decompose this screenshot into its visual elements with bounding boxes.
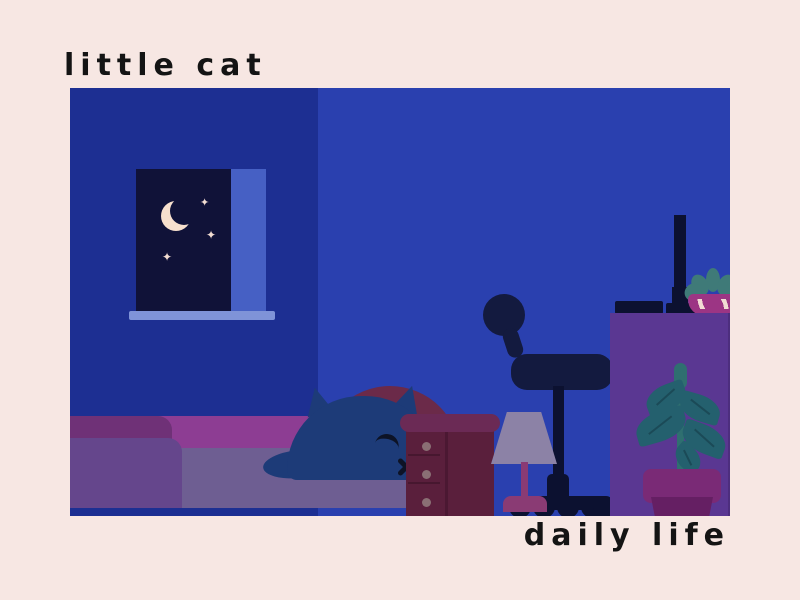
page-title-top: little cat — [64, 48, 267, 83]
nightstand-body — [406, 430, 494, 516]
floor-plant — [629, 363, 730, 516]
lamp-pole — [521, 462, 528, 500]
nightstand-drawer-line — [408, 482, 440, 484]
crescent-moon-icon — [161, 201, 191, 231]
page-title-bottom: daily life — [524, 518, 730, 553]
lamp-base — [503, 496, 547, 512]
window-curtain — [231, 169, 266, 311]
desk-succulent — [684, 268, 730, 316]
star-icon: ✦ — [162, 251, 172, 264]
plant-pot-body — [651, 497, 713, 516]
drawer-knob[interactable] — [422, 470, 431, 479]
star-icon: ✦ — [206, 229, 216, 242]
nightstand-divider — [445, 430, 448, 516]
room-scene: ✦ ✦ ✦ — [70, 88, 730, 516]
star-icon: ✦ — [200, 196, 209, 209]
nightstand-top — [400, 414, 500, 432]
bed-armrest-lower — [70, 438, 182, 508]
night-window: ✦ ✦ ✦ — [136, 169, 266, 319]
drawer-knob[interactable] — [422, 498, 431, 507]
nightstand-drawer-line — [408, 454, 440, 456]
succulent-pot-stripe — [690, 299, 730, 309]
drawer-knob[interactable] — [422, 442, 431, 451]
nightstand — [400, 414, 500, 516]
table-lamp — [491, 412, 569, 514]
chair-seat — [511, 354, 613, 390]
window-sill — [129, 311, 275, 320]
illustration-canvas: little cat ✦ ✦ ✦ — [0, 0, 800, 600]
lamp-shade — [491, 412, 557, 464]
